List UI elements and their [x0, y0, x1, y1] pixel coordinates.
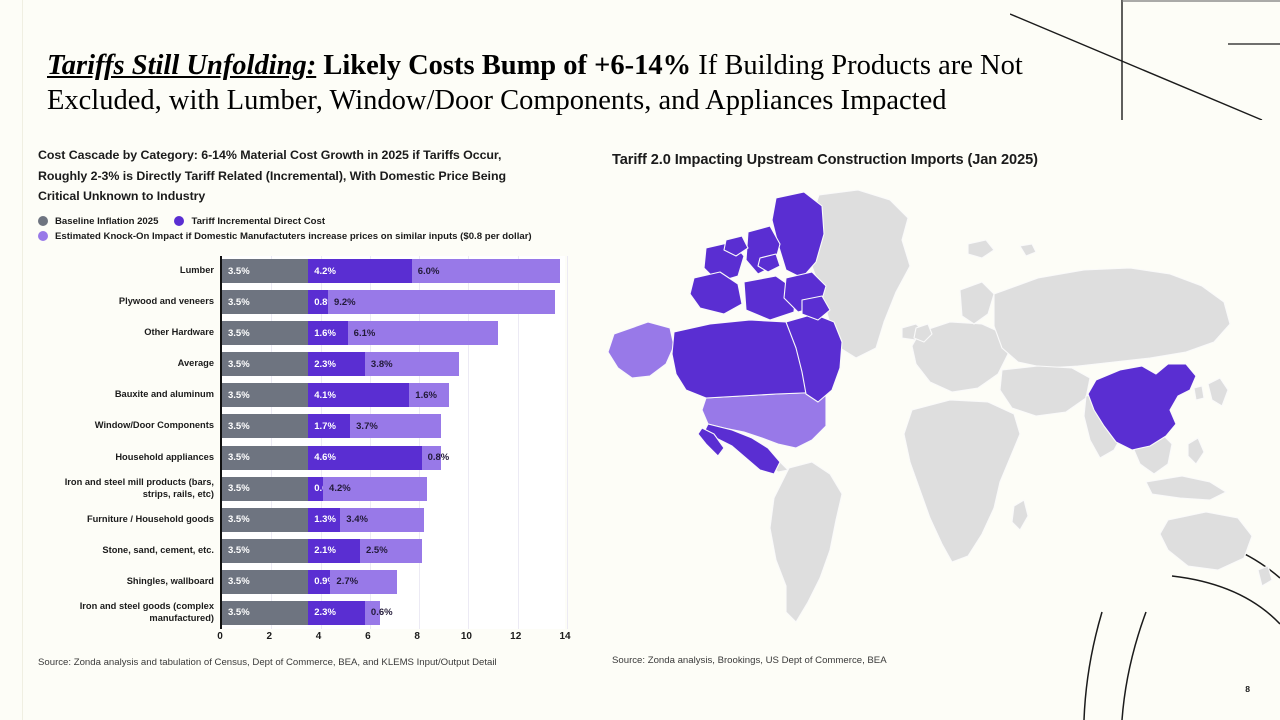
- category-label: Plywood and veneers: [36, 296, 214, 308]
- x-tick-label: 14: [559, 631, 570, 642]
- region-russia: [994, 268, 1230, 368]
- bar-row: 3.5%4.1%1.6%: [222, 383, 449, 407]
- gridline: [567, 256, 568, 629]
- bars-container: 3.5%4.2%6.0%3.5%0.8%9.2%3.5%1.6%6.1%3.5%…: [220, 256, 565, 629]
- category-label: Average: [36, 358, 214, 370]
- legend-dot-icon: [38, 216, 48, 226]
- bar-segment: 0.8%: [308, 290, 328, 314]
- region-korea: [1194, 386, 1204, 400]
- category-label: Iron and steel mill products (bars, stri…: [36, 477, 214, 500]
- category-label: Lumber: [36, 265, 214, 277]
- region-arctic-islands-2: [1020, 244, 1036, 256]
- x-tick-label: 4: [316, 631, 322, 642]
- category-label: Other Hardware: [36, 327, 214, 339]
- legend-label: Baseline Inflation 2025: [55, 216, 158, 227]
- category-label: Stone, sand, cement, etc.: [36, 545, 214, 557]
- bar-segment: 1.3%: [308, 508, 340, 532]
- category-label: Household appliances: [36, 452, 214, 464]
- map-title: Tariff 2.0 Impacting Upstream Constructi…: [612, 152, 1272, 168]
- world-map-svg: [590, 182, 1280, 642]
- country-australia: [1160, 512, 1252, 570]
- bar-row: 3.5%4.2%6.0%: [222, 259, 560, 283]
- bar-row: 3.5%1.3%3.4%: [222, 508, 424, 532]
- bar-segment: 3.7%: [350, 414, 441, 438]
- x-tick-label: 6: [365, 631, 371, 642]
- bar-chart-panel: Cost Cascade by Category: 6-14% Material…: [38, 145, 578, 647]
- bar-segment: 0.6%: [308, 477, 323, 501]
- bar-segment: 2.3%: [308, 352, 365, 376]
- legend-label: Estimated Knock-On Impact if Domestic Ma…: [55, 231, 532, 242]
- bar-segment: 1.7%: [308, 414, 350, 438]
- bar-segment: 9.2%: [328, 290, 555, 314]
- region-indonesia: [1146, 476, 1226, 500]
- bar-segment: 3.4%: [340, 508, 424, 532]
- region-middle-east: [1000, 366, 1090, 416]
- bar-row: 3.5%0.6%4.2%: [222, 477, 427, 501]
- bar-segment: 2.5%: [360, 539, 422, 563]
- bar-segment: 4.1%: [308, 383, 409, 407]
- bar-segment: 1.6%: [409, 383, 448, 407]
- bar-segment: 3.5%: [222, 383, 308, 407]
- country-madagascar: [1012, 500, 1028, 530]
- bar-segment: 3.5%: [222, 414, 308, 438]
- bar-segment: 3.5%: [222, 508, 308, 532]
- map-panel: Tariff 2.0 Impacting Upstream Constructi…: [612, 152, 1272, 168]
- x-tick-label: 8: [414, 631, 420, 642]
- x-tick-label: 0: [217, 631, 223, 642]
- slide-canvas: Tariffs Still Unfolding: Likely Costs Bu…: [0, 0, 1280, 720]
- bar-segment: 3.5%: [222, 290, 308, 314]
- bar-segment: 0.6%: [365, 601, 380, 625]
- left-source-note: Source: Zonda analysis and tabulation of…: [38, 657, 497, 668]
- bar-segment: 3.5%: [222, 446, 308, 470]
- headline-emphasis: Tariffs Still Unfolding:: [47, 50, 316, 81]
- bar-segment: 3.5%: [222, 477, 308, 501]
- bar-segment: 3.5%: [222, 352, 308, 376]
- category-label: Bauxite and aluminum: [36, 389, 214, 401]
- country-philippines: [1188, 438, 1204, 464]
- bar-segment: 4.6%: [308, 446, 421, 470]
- category-label: Window/Door Components: [36, 420, 214, 432]
- bar-row: 3.5%0.9%2.7%: [222, 570, 397, 594]
- region-canada-arctic-4: [690, 272, 742, 314]
- category-axis: LumberPlywood and veneersOther HardwareA…: [38, 256, 220, 629]
- bar-segment: 3.5%: [222, 570, 308, 594]
- region-africa: [904, 400, 1020, 562]
- region-arctic-islands: [968, 240, 994, 258]
- bar-segment: 0.9%: [308, 570, 330, 594]
- left-margin-rule: [22, 0, 23, 720]
- chart-title: Cost Cascade by Category: 6-14% Material…: [38, 145, 538, 207]
- legend-dot-icon: [38, 231, 48, 241]
- category-label: Furniture / Household goods: [36, 514, 214, 526]
- bar-row: 3.5%0.8%9.2%: [222, 290, 555, 314]
- category-label: Iron and steel goods (complex manufactur…: [36, 601, 214, 624]
- x-tick-label: 12: [510, 631, 521, 642]
- chart-legend: Baseline Inflation 2025 Tariff Increment…: [38, 216, 578, 242]
- bar-segment: 2.1%: [308, 539, 360, 563]
- right-source-note: Source: Zonda analysis, Brookings, US De…: [612, 655, 887, 666]
- legend-dot-icon: [174, 216, 184, 226]
- bar-segment: 2.3%: [308, 601, 365, 625]
- bar-segment: 3.5%: [222, 259, 308, 283]
- bar-segment: 3.5%: [222, 539, 308, 563]
- bar-row: 3.5%1.6%6.1%: [222, 321, 498, 345]
- legend-label: Tariff Incremental Direct Cost: [191, 216, 325, 227]
- bar-row: 3.5%4.6%0.8%: [222, 446, 441, 470]
- legend-item-knock-on: Estimated Knock-On Impact if Domestic Ma…: [38, 231, 532, 242]
- bar-segment: 2.7%: [330, 570, 397, 594]
- legend-item-baseline: Baseline Inflation 2025: [38, 216, 158, 227]
- bar-segment: 3.8%: [365, 352, 459, 376]
- page-number: 8: [1245, 684, 1250, 694]
- bar-row: 3.5%1.7%3.7%: [222, 414, 441, 438]
- bar-segment: 1.6%: [308, 321, 347, 345]
- country-japan: [1208, 378, 1228, 406]
- plot-area: LumberPlywood and veneersOther HardwareA…: [38, 256, 578, 629]
- region-south-america: [770, 462, 842, 622]
- headline-bold: Likely Costs Bump of +6-14%: [316, 50, 691, 81]
- bar-row: 3.5%2.3%3.8%: [222, 352, 459, 376]
- bar-segment: 3.5%: [222, 601, 308, 625]
- x-tick-label: 10: [461, 631, 472, 642]
- x-axis: 02468101214: [220, 629, 565, 647]
- world-map: [590, 182, 1280, 642]
- region-scandinavia: [960, 282, 994, 324]
- page-title: Tariffs Still Unfolding: Likely Costs Bu…: [47, 48, 1067, 118]
- bar-segment: 6.0%: [412, 259, 560, 283]
- bar-segment: 3.5%: [222, 321, 308, 345]
- legend-item-tariff: Tariff Incremental Direct Cost: [174, 216, 325, 227]
- country-new-zealand: [1258, 566, 1272, 586]
- bar-row: 3.5%2.3%0.6%: [222, 601, 380, 625]
- x-tick-label: 2: [267, 631, 273, 642]
- bar-segment: 4.2%: [323, 477, 427, 501]
- bar-row: 3.5%2.1%2.5%: [222, 539, 422, 563]
- bar-segment: 6.1%: [348, 321, 498, 345]
- category-label: Shingles, wallboard: [36, 576, 214, 588]
- bar-segment: 4.2%: [308, 259, 412, 283]
- bar-segment: 0.8%: [422, 446, 442, 470]
- region-alaska: [608, 322, 674, 378]
